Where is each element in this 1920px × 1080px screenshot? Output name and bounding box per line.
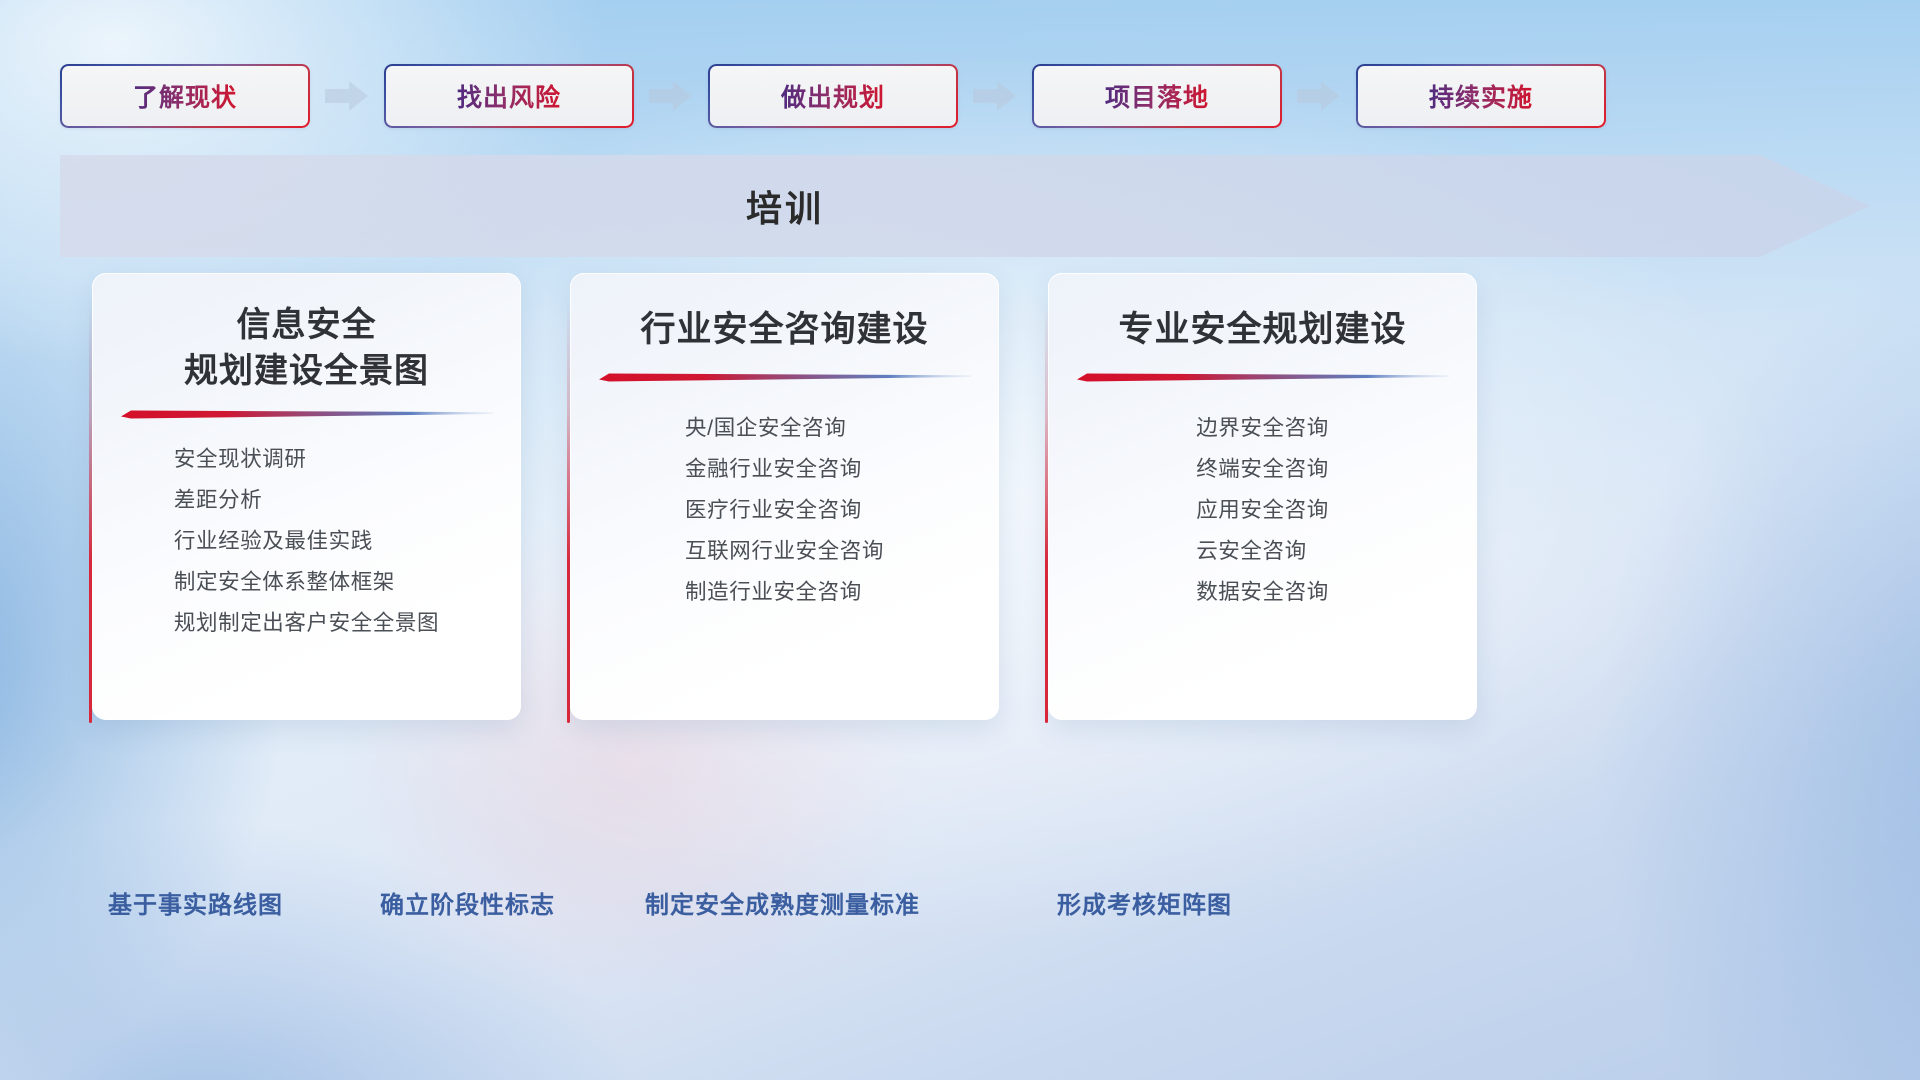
list-item: 央/国企安全咨询: [685, 408, 884, 449]
footnote-label-3: 制定安全成熟度测量标准: [645, 885, 920, 920]
step-button-4[interactable]: 项目落地: [1032, 64, 1282, 128]
list-item: 制造行业安全咨询: [685, 572, 884, 613]
card-surface: 信息安全 规划建设全景图: [92, 273, 521, 720]
card-list: 安全现状调研 差距分析 行业经验及最佳实践 制定安全体系整体框架 规划制定出客户…: [92, 439, 521, 644]
list-item: 医疗行业安全咨询: [685, 490, 884, 531]
banner-label: 培训: [60, 155, 1510, 257]
arrow-right-icon-2: [648, 79, 694, 113]
gradient-divider-icon: [599, 370, 971, 384]
arrow-right-icon-1: [324, 79, 370, 113]
gradient-divider-icon: [1077, 370, 1449, 384]
step-label-5: 持续实施: [1356, 64, 1606, 128]
list-item: 规划制定出客户安全全景图: [174, 603, 439, 644]
card-information-security-blueprint[interactable]: 信息安全 规划建设全景图: [92, 273, 521, 720]
card-surface: 行业安全咨询建设: [570, 273, 999, 720]
footnote-label-1: 基于事实路线图: [108, 885, 283, 920]
step-button-1[interactable]: 了解现状: [60, 64, 310, 128]
gradient-divider-icon: [121, 407, 493, 421]
card-title: 信息安全 规划建设全景图: [184, 303, 429, 394]
card-list: 央/国企安全咨询 金融行业安全咨询 医疗行业安全咨询 互联网行业安全咨询 制造行…: [570, 408, 999, 613]
training-banner: 培训: [60, 155, 1870, 257]
footnote-label-2: 确立阶段性标志: [380, 885, 555, 920]
footnote-label-4: 形成考核矩阵图: [1057, 885, 1232, 920]
list-item: 应用安全咨询: [1196, 490, 1329, 531]
list-item: 金融行业安全咨询: [685, 449, 884, 490]
step-label-1: 了解现状: [60, 64, 310, 128]
card-row: 信息安全 规划建设全景图: [92, 273, 1862, 720]
list-item: 终端安全咨询: [1196, 449, 1329, 490]
card-list: 边界安全咨询 终端安全咨询 应用安全咨询 云安全咨询 数据安全咨询: [1048, 408, 1477, 613]
footnote-row: 基于事实路线图 确立阶段性标志 制定安全成熟度测量标准 形成考核矩阵图: [0, 885, 1920, 935]
list-item: 边界安全咨询: [1196, 408, 1329, 449]
list-item: 行业经验及最佳实践: [174, 521, 439, 562]
arrow-right-icon-3: [972, 79, 1018, 113]
step-button-2[interactable]: 找出风险: [384, 64, 634, 128]
list-item: 云安全咨询: [1196, 531, 1329, 572]
step-button-5[interactable]: 持续实施: [1356, 64, 1606, 128]
list-item: 安全现状调研: [174, 439, 439, 480]
step-label-2: 找出风险: [384, 64, 634, 128]
card-surface: 专业安全规划建设: [1048, 273, 1477, 720]
arrow-right-icon-4: [1296, 79, 1342, 113]
process-step-row: 了解现状 找出风险 做出规划 项目落地 持续实施: [60, 62, 1860, 130]
card-title: 专业安全规划建设: [1118, 307, 1406, 354]
list-item: 数据安全咨询: [1196, 572, 1329, 613]
step-button-3[interactable]: 做出规划: [708, 64, 958, 128]
list-item: 互联网行业安全咨询: [685, 531, 884, 572]
card-professional-security-planning[interactable]: 专业安全规划建设: [1048, 273, 1477, 720]
step-label-4: 项目落地: [1032, 64, 1282, 128]
card-industry-security-consulting[interactable]: 行业安全咨询建设: [570, 273, 999, 720]
list-item: 差距分析: [174, 480, 439, 521]
list-item: 制定安全体系整体框架: [174, 562, 439, 603]
step-label-3: 做出规划: [708, 64, 958, 128]
card-title: 行业安全咨询建设: [640, 307, 928, 354]
